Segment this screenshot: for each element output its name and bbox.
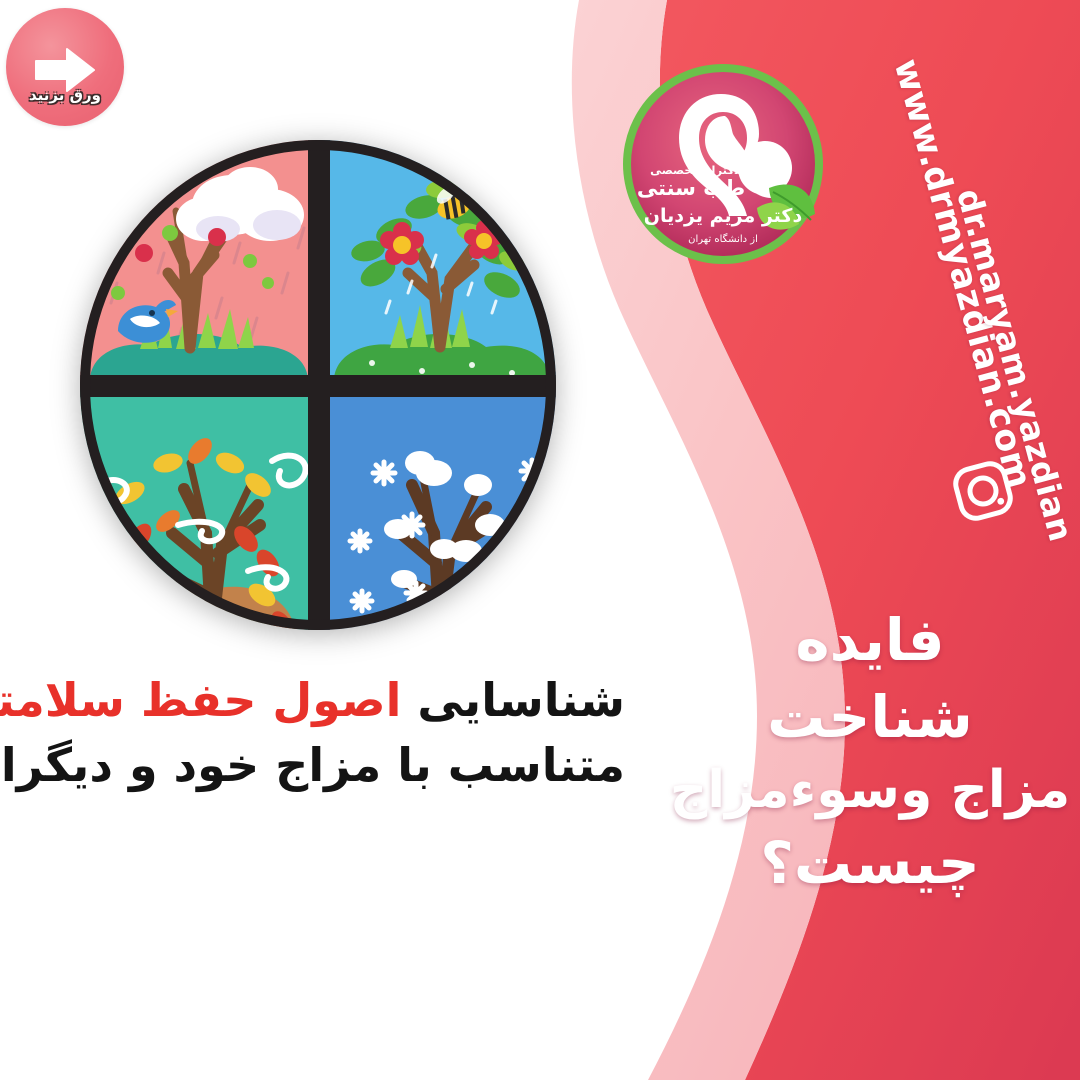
headline-line-3: مزاج وسوءمزاج: [660, 756, 1080, 825]
caption-accent: اصول حفظ سلامتی: [0, 673, 401, 727]
caption-line-2: متناسب با مزاج خود و دیگران: [5, 733, 625, 798]
headline-line-1: فایده: [660, 602, 1080, 679]
headline: فایده شناخت مزاج وسوءمزاج چیست؟: [660, 602, 1080, 903]
headline-line-4: چیست؟: [660, 825, 1080, 902]
four-seasons-circle: [72, 133, 564, 638]
swipe-label: ورق بزنید: [29, 86, 101, 104]
caption-line-1: شناسایی اصول حفظ سلامتی: [5, 668, 625, 733]
svg-text:دکتر مریم یزدیان: دکتر مریم یزدیان: [644, 205, 803, 227]
caption: شناسایی اصول حفظ سلامتی متناسب با مزاج خ…: [5, 668, 625, 799]
headline-line-2: شناخت: [660, 679, 1080, 756]
instagram-post-canvas: ورق بزنید: [0, 0, 1080, 1080]
svg-text:از دانشگاه تهران: از دانشگاه تهران: [688, 233, 758, 245]
svg-text:دکترای تخصصی: دکترای تخصصی: [650, 163, 740, 177]
mother-and-child-logo: دکترای تخصصی طب سنتی دکتر مریم یزدیان از…: [617, 58, 829, 270]
caption-lead: شناسایی: [401, 673, 625, 727]
swipe-badge[interactable]: ورق بزنید: [6, 8, 124, 126]
svg-text:طب سنتی: طب سنتی: [637, 176, 745, 200]
